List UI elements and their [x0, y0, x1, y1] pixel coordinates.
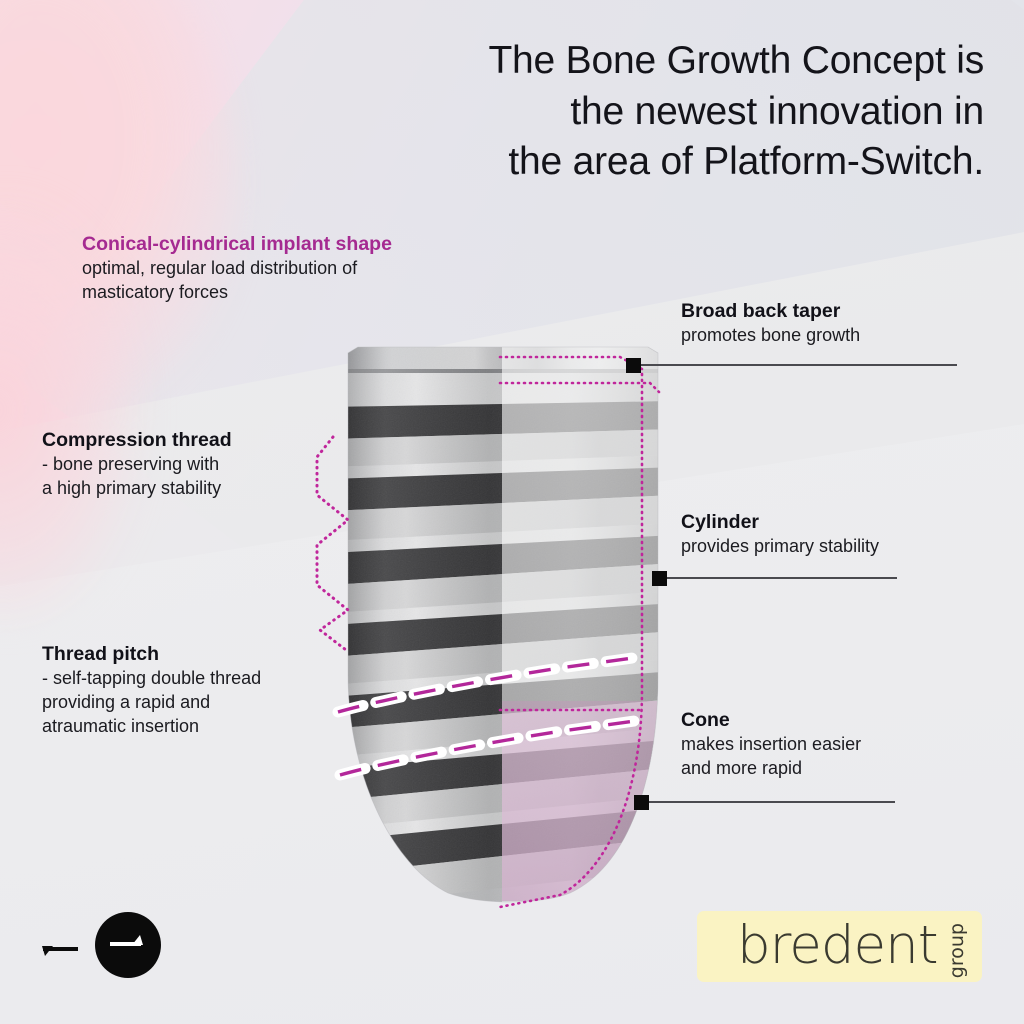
- callout-thread-pitch-body: - self-tapping double thread providing a…: [42, 667, 382, 739]
- infographic-canvas: The Bone Growth Concept is the newest in…: [0, 0, 1024, 1024]
- callout-cylinder-line-1: provides primary stability: [681, 535, 1011, 559]
- callout-broad-back-taper-body: promotes bone growth: [681, 324, 1011, 348]
- arrow-left-icon: [40, 934, 88, 962]
- callout-compression-thread-line-2: a high primary stability: [42, 477, 372, 501]
- dental-implant-illustration: [330, 345, 675, 905]
- callout-cylinder: Cylinder provides primary stability: [681, 510, 1011, 559]
- callout-thread-pitch: Thread pitch - self-tapping double threa…: [42, 642, 382, 739]
- callout-cone-title: Cone: [681, 708, 1011, 733]
- callout-cylinder-body: provides primary stability: [681, 535, 1011, 559]
- callout-thread-pitch-line-1: - self-tapping double thread: [42, 667, 382, 691]
- callout-cone-body: makes insertion easier and more rapid: [681, 733, 1011, 781]
- callout-broad-back-taper-line-1: promotes bone growth: [681, 324, 1011, 348]
- headline-line-1: The Bone Growth Concept is: [384, 36, 984, 87]
- callout-implant-shape-title: Conical-cylindrical implant shape: [82, 232, 502, 257]
- callout-broad-back-taper-title: Broad back taper: [681, 299, 1011, 324]
- callout-implant-shape-line-1: optimal, regular load distribution of: [82, 257, 502, 281]
- logo-wordmark: bredent: [737, 919, 938, 972]
- headline-line-2: the newest innovation in: [384, 87, 984, 138]
- callout-implant-shape: Conical-cylindrical implant shape optima…: [82, 232, 502, 305]
- callout-compression-thread-body: - bone preserving with a high primary st…: [42, 453, 372, 501]
- callout-thread-pitch-line-2: providing a rapid and: [42, 691, 382, 715]
- callout-cone: Cone makes insertion easier and more rap…: [681, 708, 1011, 781]
- cone-region-tint: [502, 701, 675, 901]
- previous-button[interactable]: [40, 934, 88, 962]
- callout-implant-shape-line-2: masticatory forces: [82, 281, 502, 305]
- page-title: The Bone Growth Concept is the newest in…: [384, 36, 984, 188]
- callout-broad-back-taper: Broad back taper promotes bone growth: [681, 299, 1011, 348]
- callout-cone-line-1: makes insertion easier: [681, 733, 1011, 757]
- logo-suffix: group: [946, 923, 968, 978]
- implant-body-graphic: [330, 345, 675, 905]
- callout-compression-thread: Compression thread - bone preserving wit…: [42, 428, 372, 501]
- callout-thread-pitch-title: Thread pitch: [42, 642, 382, 667]
- arrow-right-icon: [109, 932, 147, 958]
- callout-cone-line-2: and more rapid: [681, 757, 1011, 781]
- next-button[interactable]: [95, 912, 161, 978]
- callout-compression-thread-title: Compression thread: [42, 428, 372, 453]
- headline-line-3: the area of Platform-Switch.: [384, 137, 984, 188]
- bredent-group-logo: bredent group: [697, 911, 982, 982]
- callout-implant-shape-body: optimal, regular load distribution of ma…: [82, 257, 502, 305]
- callout-compression-thread-line-1: - bone preserving with: [42, 453, 372, 477]
- callout-thread-pitch-line-3: atraumatic insertion: [42, 715, 382, 739]
- callout-cylinder-title: Cylinder: [681, 510, 1011, 535]
